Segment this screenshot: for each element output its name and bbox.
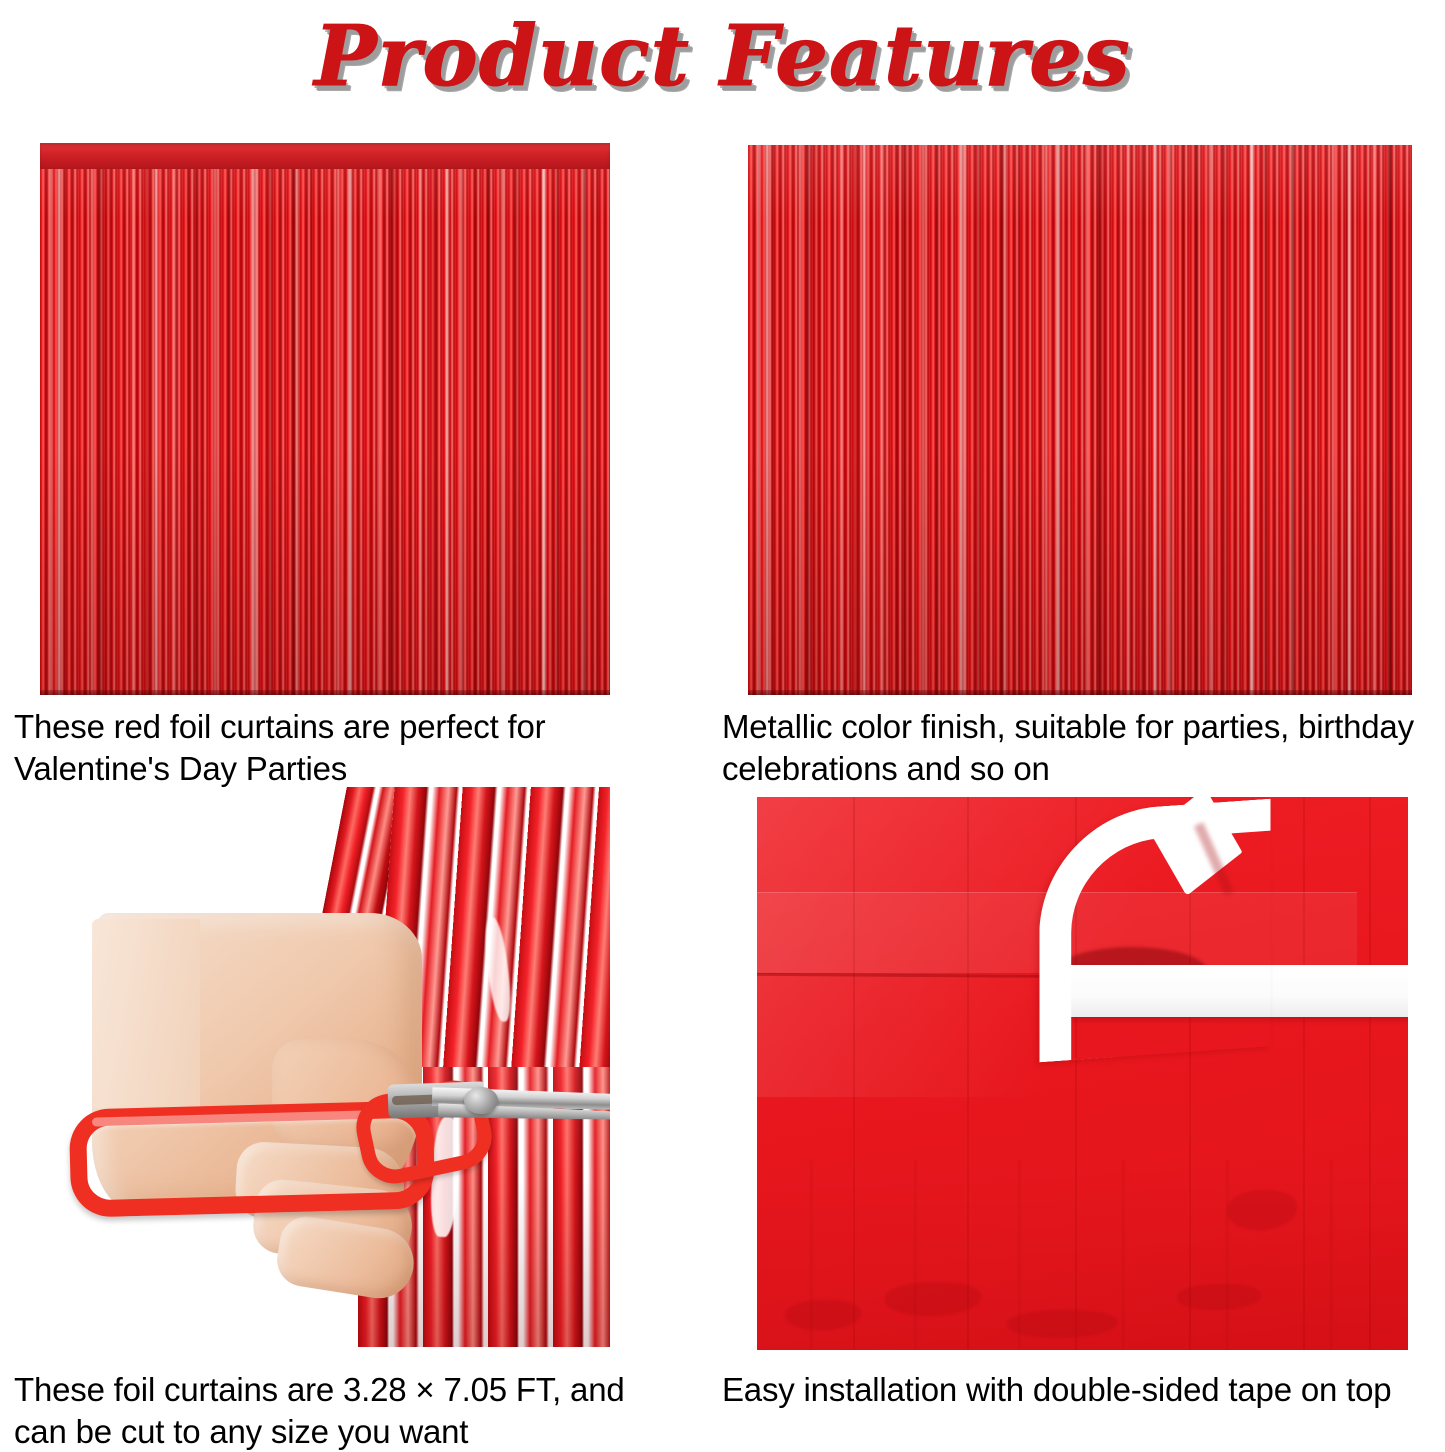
feature-image-red-foil-fringe-curtain-closeup: [748, 145, 1412, 695]
feature-caption-2: Metallic color finish, suitable for part…: [722, 706, 1434, 789]
feature-caption-3: These foil curtains are 3.28 × 7.05 FT, …: [14, 1369, 674, 1452]
feature-image-red-foil-fringe-curtain-hanging: [40, 143, 610, 695]
curtain-bottom-edge: [748, 690, 1412, 695]
foil-shading: [748, 145, 1412, 695]
page-title-banner: Product Features: [0, 0, 1445, 112]
wrist: [92, 919, 200, 1109]
page-title: Product Features: [314, 15, 1131, 98]
scissors-pivot-screw: [464, 1087, 498, 1114]
feature-image-double-sided-tape-on-red-foil: [757, 797, 1408, 1350]
feature-caption-1: These red foil curtains are perfect for …: [14, 706, 614, 789]
curtain-bottom-edge: [40, 690, 610, 695]
foil-shading: [40, 143, 610, 695]
feature-image-hand-cutting-foil-curtain-with-scissors: [40, 787, 610, 1347]
feature-caption-4: Easy installation with double-sided tape…: [722, 1369, 1422, 1411]
